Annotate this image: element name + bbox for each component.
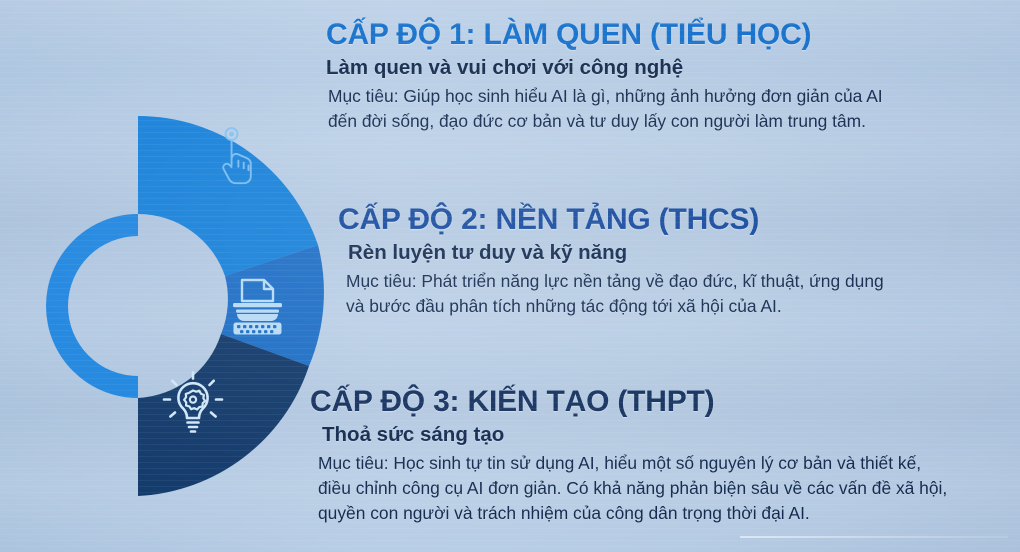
level-2-body-line-1: Mục tiêu: Phát triển năng lực nền tảng v… bbox=[346, 269, 1014, 294]
level-1-body-line-2: đến đời sống, đạo đức cơ bản và tư duy l… bbox=[328, 109, 1014, 134]
level-3-body-line-3: quyền con người và trách nhiệm của công … bbox=[318, 501, 1014, 526]
level-2-body: Mục tiêu: Phát triển năng lực nền tảng v… bbox=[346, 269, 1014, 318]
level-3-body: Mục tiêu: Học sinh tự tin sử dụng AI, hi… bbox=[318, 451, 1014, 525]
level-3-body-line-2: điều chỉnh công cụ AI đơn giản. Có khả n… bbox=[318, 476, 1014, 501]
level-2-subheading: Rèn luyện tư duy và kỹ năng bbox=[348, 241, 1014, 266]
level-3-subheading: Thoả sức sáng tạo bbox=[322, 423, 1014, 448]
level-1-body-line-1: Mục tiêu: Giúp học sinh hiểu AI là gì, n… bbox=[328, 84, 1014, 109]
slide-root: CẤP ĐỘ 1: LÀM QUEN (TIỂU HỌC) Làm quen v… bbox=[0, 0, 1020, 552]
level-3-section: CẤP ĐỘ 3: KIẾN TẠO (THPT) Thoả sức sáng … bbox=[310, 385, 1014, 525]
level-1-body: Mục tiêu: Giúp học sinh hiểu AI là gì, n… bbox=[328, 84, 1014, 133]
level-3-heading: CẤP ĐỘ 3: KIẾN TẠO (THPT) bbox=[310, 385, 1014, 419]
text-content: CẤP ĐỘ 1: LÀM QUEN (TIỂU HỌC) Làm quen v… bbox=[0, 0, 1020, 552]
level-1-heading: CẤP ĐỘ 1: LÀM QUEN (TIỂU HỌC) bbox=[326, 18, 1014, 52]
level-2-heading: CẤP ĐỘ 2: NỀN TẢNG (THCS) bbox=[338, 203, 1014, 237]
level-2-section: CẤP ĐỘ 2: NỀN TẢNG (THCS) Rèn luyện tư d… bbox=[338, 203, 1014, 319]
level-1-subheading: Làm quen và vui chơi với công nghệ bbox=[326, 56, 1014, 81]
level-1-section: CẤP ĐỘ 1: LÀM QUEN (TIỂU HỌC) Làm quen v… bbox=[326, 18, 1014, 134]
level-2-body-line-2: và bước đầu phân tích những tác động tới… bbox=[346, 294, 1014, 319]
level-3-body-line-1: Mục tiêu: Học sinh tự tin sử dụng AI, hi… bbox=[318, 451, 1014, 476]
